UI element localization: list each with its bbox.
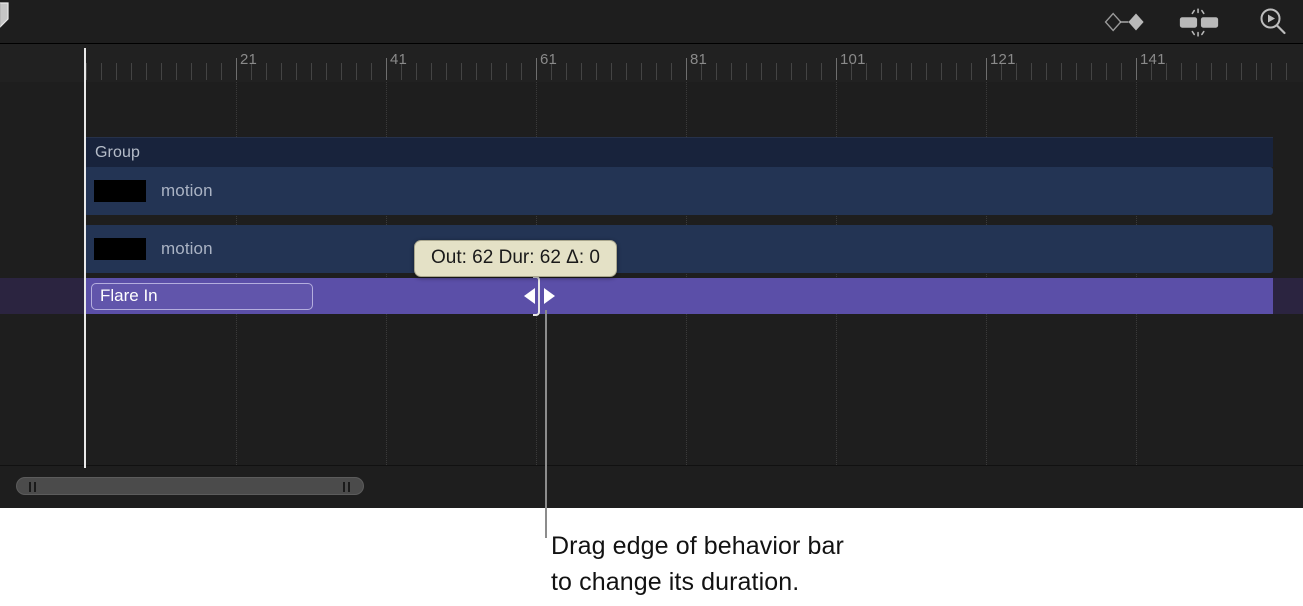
ruler-tick-minor	[671, 63, 672, 80]
show-hide-split-icon[interactable]	[1177, 6, 1221, 38]
ruler-tick-minor	[161, 63, 162, 80]
ruler-tick-major	[986, 58, 987, 80]
track-bar-motion-2[interactable]: motion	[84, 225, 1273, 273]
motion-track-2-label: motion	[161, 239, 213, 259]
ruler-tick-minor	[641, 63, 642, 80]
ruler-tick-minor	[1046, 63, 1047, 80]
track-bar-behavior-flare-in[interactable]: Flare In	[84, 278, 1273, 314]
ruler-tick-major	[686, 58, 687, 80]
playhead-line[interactable]	[84, 48, 86, 468]
toolbar-button-group	[1103, 0, 1295, 43]
horizontal-scrollbar-thumb[interactable]	[16, 477, 364, 495]
ruler-tick-minor	[581, 63, 582, 80]
callout-leader-line	[545, 310, 547, 538]
ruler-tick-minor	[941, 63, 942, 80]
ruler-tick-minor	[296, 63, 297, 80]
ruler-tick-minor	[1196, 63, 1197, 80]
motion-timeline-screenshot: 21416181101121141 Group motion motion	[0, 0, 1303, 606]
ruler-tick-minor	[431, 63, 432, 80]
ruler-tick-minor	[86, 63, 87, 80]
timeline-panel: 21416181101121141 Group motion motion	[0, 0, 1303, 508]
keyframe-link-icon[interactable]	[1103, 6, 1147, 38]
ruler-tick-minor	[566, 63, 567, 80]
zoom-search-icon[interactable]	[1251, 6, 1295, 38]
group-track-label: Group	[84, 144, 140, 162]
ruler-tick-major	[236, 58, 237, 80]
horizontal-scroll-area	[0, 465, 1303, 508]
ruler-tick-minor	[131, 63, 132, 80]
ruler-tick-minor	[1016, 63, 1017, 80]
ruler-tick-minor	[821, 63, 822, 80]
ruler-tick-minor	[446, 63, 447, 80]
ruler-tick-minor	[1181, 63, 1182, 80]
ruler-tick-minor	[371, 63, 372, 80]
callout-annotation: Drag edge of behavior bar to change its …	[551, 528, 844, 600]
ruler-tick-minor	[971, 63, 972, 80]
ruler-tick-minor	[731, 63, 732, 80]
ruler-tick-minor	[116, 63, 117, 80]
ruler-tick-minor	[281, 63, 282, 80]
playhead-marker-icon[interactable]	[0, 2, 12, 37]
scrollbar-grip-left[interactable]	[29, 482, 31, 492]
ruler-tick-minor	[1241, 63, 1242, 80]
ruler-tick-label: 61	[540, 51, 557, 68]
ruler-tick-minor	[521, 63, 522, 80]
ruler-tick-minor	[911, 63, 912, 80]
callout-line-1: Drag edge of behavior bar	[551, 528, 844, 564]
ruler-tick-minor	[1286, 63, 1287, 80]
motion-track-1-label: motion	[161, 181, 213, 201]
ruler-tick-minor	[1031, 63, 1032, 80]
layer-thumbnail	[94, 180, 146, 202]
ruler-tick-minor	[1076, 63, 1077, 80]
ruler-tick-minor	[926, 63, 927, 80]
ruler-tick-minor	[146, 63, 147, 80]
ruler-tick-minor	[611, 63, 612, 80]
ruler-tick-minor	[1166, 63, 1167, 80]
ruler-tick-label: 141	[1140, 51, 1166, 68]
ruler-tick-major	[536, 58, 537, 80]
ruler-tick-major	[1136, 58, 1137, 80]
ruler-tick-label: 81	[690, 51, 707, 68]
behavior-name-label: Flare In	[91, 283, 313, 310]
ruler-tick-minor	[761, 63, 762, 80]
ruler-tick-minor	[191, 63, 192, 80]
callout-line-2: to change its duration.	[551, 564, 844, 600]
ruler-tick-minor	[806, 63, 807, 80]
ruler-tick-minor	[461, 63, 462, 80]
ruler-tick-marks	[0, 44, 1303, 82]
ruler-tick-minor	[506, 63, 507, 80]
scrollbar-grip-right[interactable]	[348, 482, 350, 492]
ruler-tick-label: 101	[840, 51, 866, 68]
ruler-tick-minor	[626, 63, 627, 80]
horizontal-scrollbar-track[interactable]	[16, 477, 1287, 495]
ruler-tick-minor	[1256, 63, 1257, 80]
ruler-tick-minor	[656, 63, 657, 80]
ruler-tick-label: 121	[990, 51, 1016, 68]
ruler-tick-minor	[956, 63, 957, 80]
ruler-tick-minor	[1061, 63, 1062, 80]
ruler-tick-minor	[881, 63, 882, 80]
track-bar-motion-1[interactable]: motion	[84, 167, 1273, 215]
timeline-toolbar	[0, 0, 1303, 44]
ruler-tick-minor	[356, 63, 357, 80]
ruler-tick-minor	[341, 63, 342, 80]
ruler-tick-minor	[791, 63, 792, 80]
ruler-tick-minor	[896, 63, 897, 80]
track-bar-group[interactable]: Group	[84, 137, 1273, 167]
ruler-tick-label: 21	[240, 51, 257, 68]
ruler-tick-minor	[206, 63, 207, 80]
ruler-tick-minor	[101, 63, 102, 80]
ruler-tick-minor	[491, 63, 492, 80]
ruler-tick-minor	[596, 63, 597, 80]
drag-edge-bracket	[533, 276, 540, 316]
ruler-tick-minor	[476, 63, 477, 80]
ruler-tick-minor	[266, 63, 267, 80]
ruler-tick-minor	[746, 63, 747, 80]
timeline-ruler[interactable]: 21416181101121141	[0, 44, 1303, 82]
ruler-tick-major	[386, 58, 387, 80]
ruler-tick-minor	[776, 63, 777, 80]
scrollbar-grip-left[interactable]	[34, 482, 36, 492]
drag-arrow-right-icon	[544, 288, 555, 304]
ruler-tick-minor	[1271, 63, 1272, 80]
ruler-tick-minor	[176, 63, 177, 80]
drag-duration-tooltip: Out: 62 Dur: 62 Δ: 0	[414, 240, 617, 277]
ruler-tick-minor	[866, 63, 867, 80]
ruler-tick-minor	[1091, 63, 1092, 80]
scrollbar-grip-right[interactable]	[343, 482, 345, 492]
ruler-tick-label: 41	[390, 51, 407, 68]
tracks-area[interactable]: Group motion motion Flare In	[0, 82, 1303, 465]
ruler-tick-minor	[716, 63, 717, 80]
ruler-tick-minor	[326, 63, 327, 80]
ruler-tick-minor	[1211, 63, 1212, 80]
ruler-tick-minor	[221, 63, 222, 80]
ruler-tick-minor	[311, 63, 312, 80]
layer-thumbnail	[94, 238, 146, 260]
ruler-tick-minor	[416, 63, 417, 80]
ruler-tick-minor	[1226, 63, 1227, 80]
ruler-tick-minor	[1106, 63, 1107, 80]
ruler-tick-major	[836, 58, 837, 80]
ruler-tick-minor	[1121, 63, 1122, 80]
